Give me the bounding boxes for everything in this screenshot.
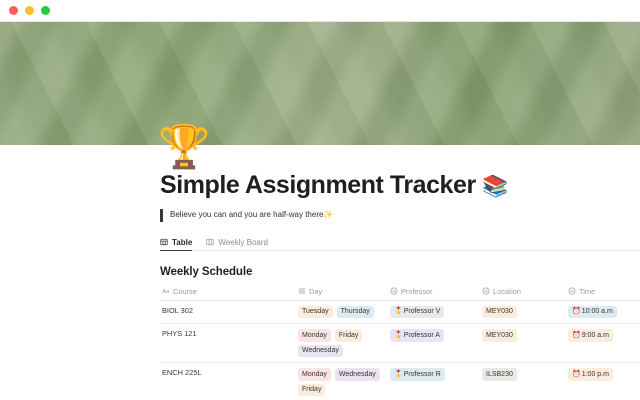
day-tag-label: Thursday <box>341 308 370 315</box>
column-header-professor[interactable]: Professor <box>388 284 480 301</box>
location-tag-label: MEY030 <box>486 308 513 315</box>
day-tag[interactable]: Wednesday <box>335 368 380 381</box>
day-tag-group: MondayFridayWednesday <box>298 329 384 357</box>
table-icon <box>160 238 168 246</box>
page-cover-banner[interactable]: 🏆 <box>0 22 640 145</box>
table-header-row: Aa Course <box>160 284 640 301</box>
page-title[interactable]: Simple Assignment Tracker 📚 <box>160 171 640 200</box>
day-tag[interactable]: Wednesday <box>298 345 343 358</box>
callout-quote: Believe you can and you are half-way the… <box>160 209 640 222</box>
day-tag-label: Wednesday <box>302 347 339 354</box>
books-emoji: 📚 <box>482 175 508 198</box>
day-tag[interactable]: Tuesday <box>298 306 333 319</box>
day-tag[interactable]: Friday <box>298 384 325 397</box>
time-tag[interactable]: ⏰9:00 a.m <box>568 329 613 342</box>
close-button[interactable] <box>9 6 18 15</box>
cell-location[interactable]: ILSB230 <box>480 363 566 400</box>
page-content: Simple Assignment Tracker 📚 Believe you … <box>160 171 640 400</box>
cell-day[interactable]: MondayFridayWednesday <box>296 324 388 363</box>
location-tag[interactable]: MEY030 <box>482 329 517 342</box>
professor-tag[interactable]: 🎖️Professor V <box>390 306 444 319</box>
day-tag[interactable]: Monday <box>298 368 331 381</box>
location-tag-label: MEY030 <box>486 332 513 339</box>
day-tag[interactable]: Friday <box>335 329 362 342</box>
cell-professor[interactable]: 🎖️Professor A <box>388 324 480 363</box>
cell-time[interactable]: ⏰1:00 p.m <box>566 363 640 400</box>
cell-location[interactable]: MEY030 <box>480 324 566 363</box>
cell-day[interactable]: TuesdayThursday <box>296 300 388 324</box>
tab-table[interactable]: Table <box>160 238 192 251</box>
professor-tag-label: Professor R <box>404 371 441 378</box>
column-header-course[interactable]: Aa Course <box>160 284 296 301</box>
location-tag[interactable]: ILSB230 <box>482 368 517 381</box>
cell-course[interactable]: ENCH 225L <box>160 363 296 400</box>
time-tag-label: 9:00 a.m <box>582 332 609 339</box>
table-row[interactable]: BIOL 302TuesdayThursday🎖️Professor VMEY0… <box>160 300 640 324</box>
select-icon <box>568 287 576 295</box>
column-header-day[interactable]: Day <box>296 284 388 301</box>
table-row[interactable]: PHYS 121MondayFridayWednesday🎖️Professor… <box>160 324 640 363</box>
table-body: BIOL 302TuesdayThursday🎖️Professor VMEY0… <box>160 300 640 400</box>
cell-professor[interactable]: 🎖️Professor V <box>388 300 480 324</box>
minimize-button[interactable] <box>25 6 34 15</box>
day-tag-label: Friday <box>302 386 321 393</box>
cell-location[interactable]: MEY030 <box>480 300 566 324</box>
window-titlebar <box>0 0 640 22</box>
professor-tag-emoji: 🎖️ <box>394 308 403 315</box>
text-aa-icon: Aa <box>162 287 170 295</box>
multi-select-icon <box>298 287 306 295</box>
cell-professor[interactable]: 🎖️Professor R <box>388 363 480 400</box>
cell-course[interactable]: PHYS 121 <box>160 324 296 363</box>
time-tag-emoji: ⏰ <box>572 332 581 339</box>
svg-text:Aa: Aa <box>162 289 170 295</box>
column-header-course-label: Course <box>173 287 197 296</box>
cell-time[interactable]: ⏰9:00 a.m <box>566 324 640 363</box>
column-header-location-label: Location <box>493 287 521 296</box>
professor-tag-label: Professor V <box>404 308 441 315</box>
professor-tag[interactable]: 🎖️Professor A <box>390 329 444 342</box>
time-tag-label: 1:00 p.m <box>582 371 609 378</box>
location-tag[interactable]: MEY030 <box>482 306 517 319</box>
page-body: Simple Assignment Tracker 📚 Believe you … <box>0 145 640 400</box>
day-tag-label: Tuesday <box>302 308 329 315</box>
day-tag-label: Monday <box>302 332 327 339</box>
board-icon <box>206 238 214 246</box>
day-tag-group: MondayWednesdayFriday <box>298 368 384 396</box>
table-title: Weekly Schedule <box>160 266 640 278</box>
location-tag-label: ILSB230 <box>486 371 513 378</box>
time-tag[interactable]: ⏰1:00 p.m <box>568 368 613 381</box>
tab-weekly-board[interactable]: Weekly Board <box>206 238 268 251</box>
column-header-time[interactable]: Time <box>566 284 640 301</box>
maximize-button[interactable] <box>41 6 50 15</box>
column-header-location[interactable]: Location <box>480 284 566 301</box>
day-tag-group: TuesdayThursday <box>298 306 384 319</box>
day-tag-label: Wednesday <box>339 371 376 378</box>
table-header: Aa Course <box>160 284 640 301</box>
callout-text: Believe you can and you are half-way the… <box>170 211 333 219</box>
tab-weekly-board-label: Weekly Board <box>218 238 268 247</box>
schedule-table: Aa Course <box>160 284 640 400</box>
select-icon <box>482 287 490 295</box>
trophy-emoji[interactable]: 🏆 <box>158 126 210 168</box>
professor-tag-emoji: 🎖️ <box>394 332 403 339</box>
column-header-professor-label: Professor <box>401 287 433 296</box>
column-header-day-label: Day <box>309 287 322 296</box>
time-tag-label: 10:00 a.m <box>582 308 613 315</box>
professor-tag-label: Professor A <box>404 332 440 339</box>
cell-day[interactable]: MondayWednesdayFriday <box>296 363 388 400</box>
app-window: 🏆 Simple Assignment Tracker 📚 Believe yo… <box>0 0 640 400</box>
table-row[interactable]: ENCH 225LMondayWednesdayFriday🎖️Professo… <box>160 363 640 400</box>
time-tag[interactable]: ⏰10:00 a.m <box>568 306 617 319</box>
day-tag-label: Monday <box>302 371 327 378</box>
time-tag-emoji: ⏰ <box>572 308 581 315</box>
column-header-time-label: Time <box>579 287 595 296</box>
day-tag[interactable]: Thursday <box>337 306 374 319</box>
professor-tag-emoji: 🎖️ <box>394 371 403 378</box>
cell-course[interactable]: BIOL 302 <box>160 300 296 324</box>
time-tag-emoji: ⏰ <box>572 371 581 378</box>
professor-tag[interactable]: 🎖️Professor R <box>390 368 445 381</box>
day-tag[interactable]: Monday <box>298 329 331 342</box>
view-tabs: Table Weekly Board <box>160 234 640 251</box>
tab-table-label: Table <box>172 238 192 247</box>
page-title-text: Simple Assignment Tracker <box>160 171 476 199</box>
cell-time[interactable]: ⏰10:00 a.m <box>566 300 640 324</box>
select-icon <box>390 287 398 295</box>
day-tag-label: Friday <box>339 332 358 339</box>
